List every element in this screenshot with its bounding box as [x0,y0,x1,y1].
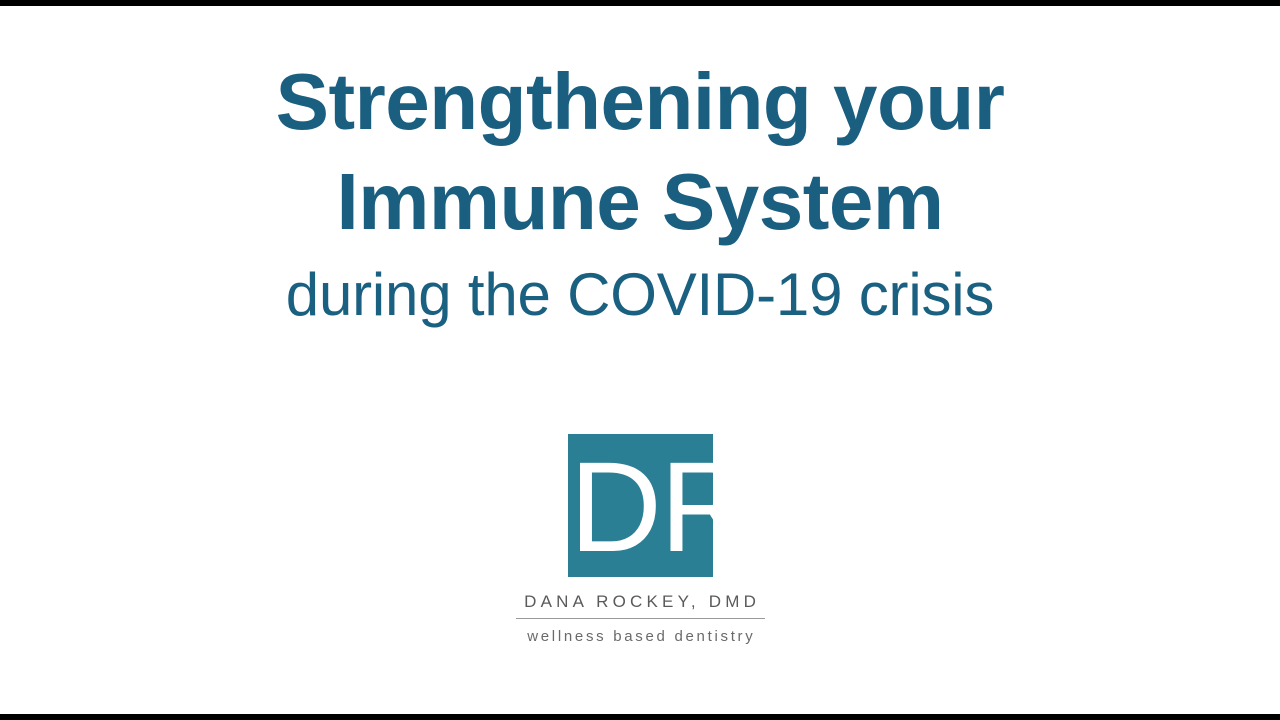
title-slide: Strengthening your Immune System during … [0,6,1280,714]
logo-practice-name: DANA ROCKEY, DMD [516,591,765,613]
title-block: Strengthening your Immune System during … [0,52,1280,338]
video-frame: Strengthening your Immune System during … [0,0,1280,720]
letterbox-bar-bottom [0,714,1280,720]
logo-lockup: DR DANA ROCKEY, DMD wellness based denti… [516,426,765,647]
subtitle-line: during the COVID-19 crisis [0,252,1280,338]
logo-monogram-letters: DR [568,434,713,577]
logo-monogram-square: DR [568,434,713,577]
logo-block: DR DANA ROCKEY, DMD wellness based denti… [0,426,1280,647]
logo-tagline: wellness based dentistry [516,627,765,647]
letterbox-bar-top [0,0,1280,6]
title-line-2: Immune System [0,152,1280,252]
logo-divider-rule [516,618,765,619]
title-line-1: Strengthening your [0,52,1280,152]
